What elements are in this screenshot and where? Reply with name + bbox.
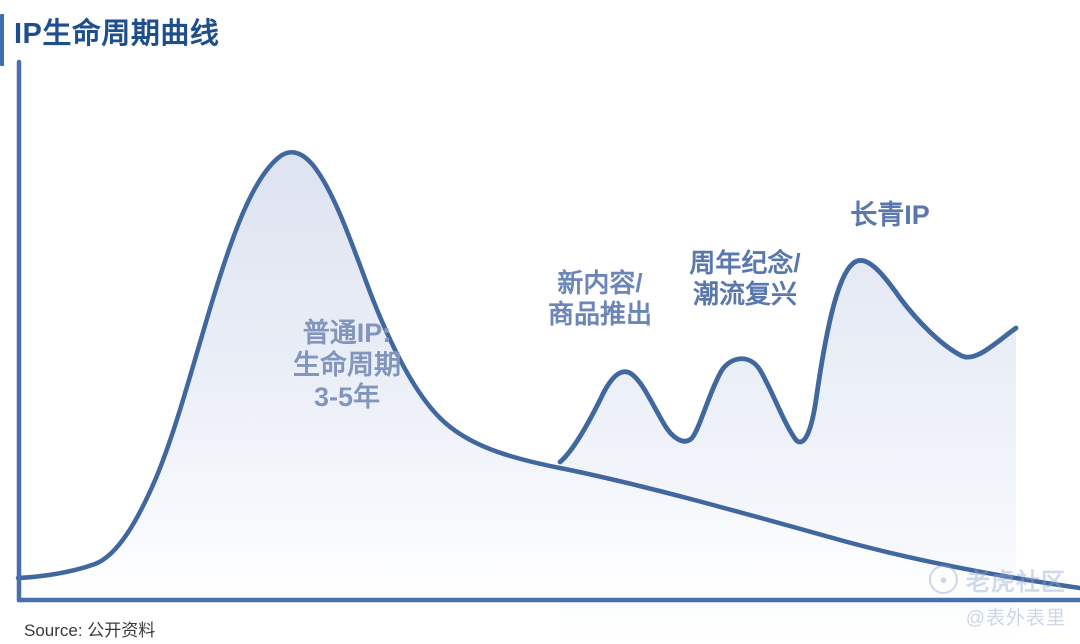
annotation-common-ip: 普通IP: 生命周期 3-5年	[272, 318, 422, 414]
annotation-anniversary: 周年纪念/ 潮流复兴	[665, 248, 825, 309]
chart-canvas: IP生命周期曲线 普通	[0, 0, 1080, 644]
source-note: Source: 公开资料	[24, 616, 155, 641]
annotation-evergreen-ip: 长青IP	[830, 200, 950, 232]
annotation-new-content: 新内容/ 商品推出	[525, 268, 675, 329]
